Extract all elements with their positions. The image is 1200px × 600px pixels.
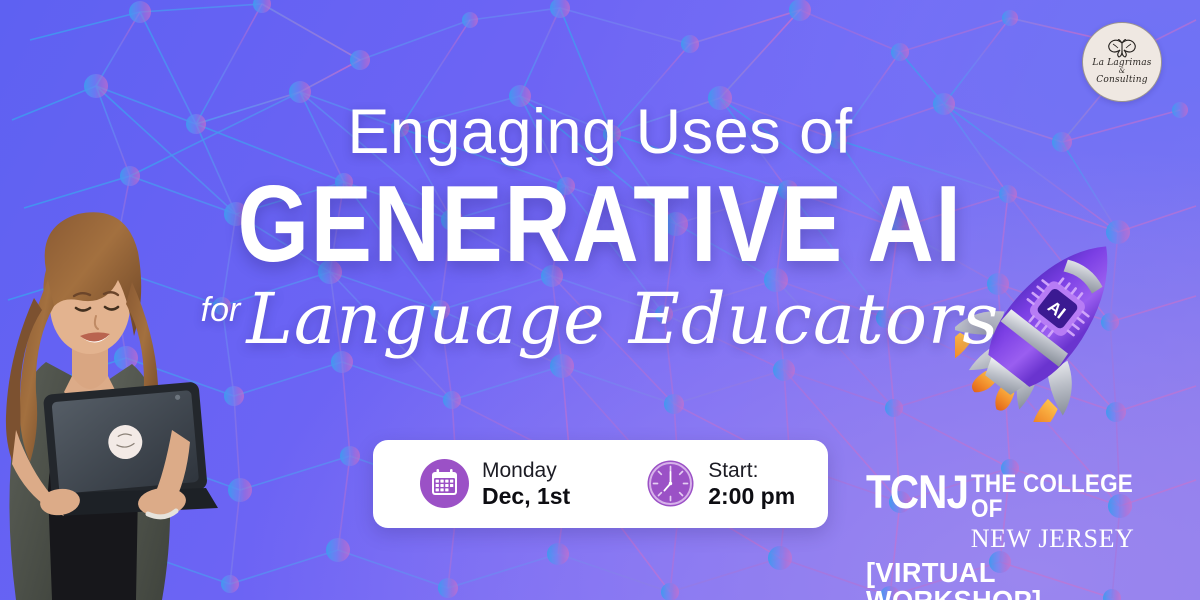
- event-day: Monday: [482, 459, 557, 482]
- event-date-text: Monday Dec, 1st: [482, 459, 570, 509]
- ai-rocket-illustration: AI: [955, 222, 1140, 422]
- tcnj-full-name: THE COLLEGE OF NEW JERSEY: [971, 470, 1182, 552]
- event-start-time: 2:00 pm: [708, 483, 795, 509]
- event-time-text: Start: 2:00 pm: [708, 459, 795, 509]
- calendar-icon: [420, 459, 469, 508]
- event-info-card: Monday Dec, 1st: [373, 440, 828, 528]
- presenter-photo: [0, 130, 236, 600]
- workshop-promo-banner: AI Engaging Uses of GENERATIVE AI forLan…: [0, 0, 1200, 600]
- tcnj-wordmark: TCNJ: [866, 470, 968, 514]
- consulting-logo-badge: La Lagrimas & Consulting: [1082, 22, 1162, 102]
- badge-script-text: La Lagrimas & Consulting: [1092, 59, 1151, 86]
- workshop-subtitle: [VIRTUAL WORKSHOP]: [866, 559, 1173, 600]
- tcnj-name-line-1: THE COLLEGE OF: [971, 472, 1161, 522]
- tcnj-name-line-2: NEW JERSEY: [971, 525, 1182, 552]
- tcnj-logo-row: TCNJ THE COLLEGE OF NEW JERSEY: [866, 470, 1182, 552]
- clock-icon: [646, 459, 695, 508]
- butterfly-icon: [1107, 39, 1137, 58]
- event-date-item: Monday Dec, 1st: [420, 459, 570, 509]
- badge-line-2: Consulting: [1092, 76, 1151, 86]
- event-date: Dec, 1st: [482, 483, 570, 509]
- event-start-label: Start:: [708, 459, 758, 482]
- tcnj-logo-lockup: TCNJ THE COLLEGE OF NEW JERSEY [VIRTUAL …: [866, 470, 1182, 600]
- event-time-item: Start: 2:00 pm: [646, 459, 795, 509]
